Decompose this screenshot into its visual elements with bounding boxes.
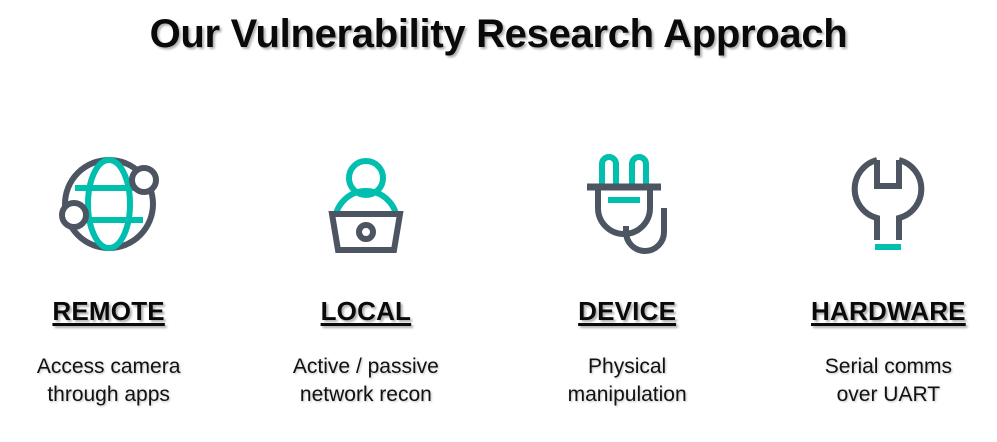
column-description-remote: Access camera through apps	[37, 353, 181, 409]
column-label-device: DEVICE	[578, 296, 676, 327]
column-description-hardware: Serial comms over UART	[825, 353, 952, 409]
column-description-local: Active / passive network recon	[293, 353, 439, 409]
approach-columns: REMOTE Access camera through apps LOCAL …	[0, 148, 997, 409]
column-label-remote: REMOTE	[52, 296, 164, 327]
power-plug-icon	[577, 148, 677, 260]
approach-column-local: LOCAL Active / passive network recon	[243, 148, 488, 409]
slide-root: Our Vulnerability Research Approach	[0, 0, 997, 442]
column-label-local: LOCAL	[321, 296, 412, 327]
approach-column-hardware: HARDWARE Serial comms over UART	[766, 148, 997, 409]
globe-network-icon	[57, 148, 161, 260]
page-title: Our Vulnerability Research Approach	[0, 12, 997, 57]
wrench-icon	[851, 148, 925, 260]
person-laptop-icon	[318, 148, 414, 260]
column-label-hardware: HARDWARE	[811, 296, 966, 327]
column-description-device: Physical manipulation	[568, 353, 687, 409]
approach-column-device: DEVICE Physical manipulation	[505, 148, 750, 409]
approach-column-remote: REMOTE Access camera through apps	[0, 148, 231, 409]
